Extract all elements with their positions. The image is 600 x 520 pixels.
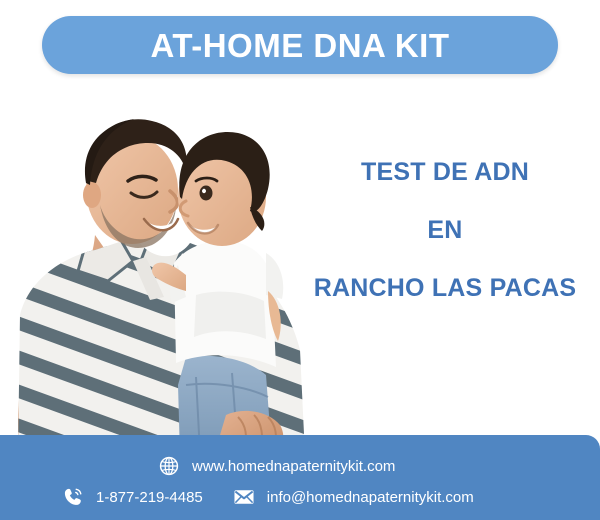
email-contact-item[interactable]: info@homednapaternitykit.com (233, 486, 474, 508)
headline-line-3: RANCHO LAS PACAS (300, 276, 590, 301)
header-title: AT-HOME DNA KIT (151, 29, 450, 62)
phone-contact-item[interactable]: 1-877-219-4485 (62, 486, 203, 508)
footer-website-row: www.homednapaternitykit.com (158, 455, 395, 477)
globe-icon (158, 455, 180, 477)
headline-line-2: EN (300, 218, 590, 243)
email-text: info@homednapaternitykit.com (267, 490, 474, 505)
envelope-icon (233, 486, 255, 508)
website-contact-item[interactable]: www.homednapaternitykit.com (158, 455, 395, 477)
header-banner: AT-HOME DNA KIT (42, 16, 558, 74)
headline-block: TEST DE ADN EN RANCHO LAS PACAS (300, 160, 590, 301)
phone-icon (62, 486, 84, 508)
footer-contact-row: 1-877-219-4485 info@homednapaternitykit.… (62, 486, 474, 508)
father-and-child-photo (0, 85, 330, 455)
poster-canvas: AT-HOME DNA KIT (0, 0, 600, 520)
phone-text: 1-877-219-4485 (96, 490, 203, 505)
website-text: www.homednapaternitykit.com (192, 459, 395, 474)
headline-line-1: TEST DE ADN (300, 160, 590, 185)
